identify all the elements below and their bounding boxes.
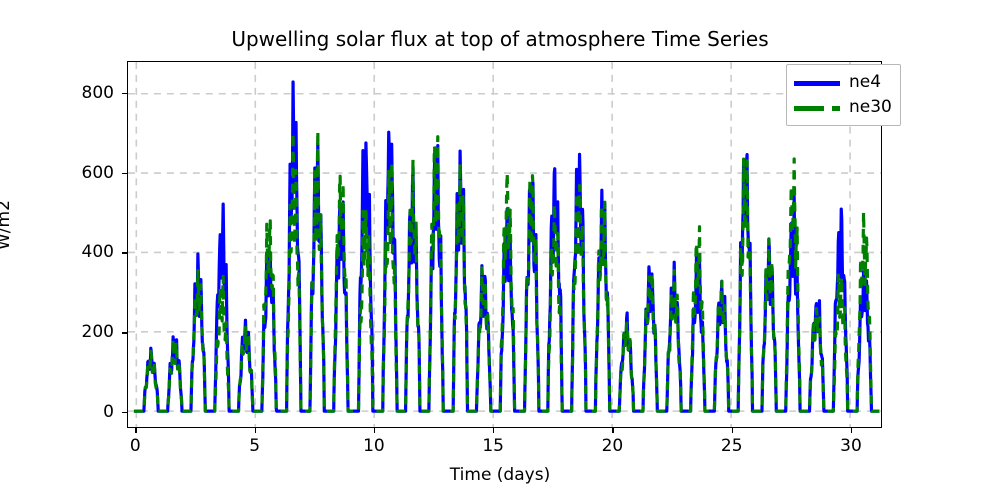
legend-label-ne30: ne30: [849, 99, 892, 116]
x-tick-mark: [851, 428, 852, 433]
y-tick-mark: [122, 332, 127, 333]
x-tick-mark: [493, 428, 494, 433]
series-lines: [128, 62, 881, 427]
y-tick-mark: [122, 93, 127, 94]
y-tick-label: 200: [82, 322, 114, 342]
y-tick-label: 400: [82, 242, 114, 262]
chart-figure: Upwelling solar flux at top of atmospher…: [0, 0, 1000, 500]
y-tick-mark: [122, 173, 127, 174]
x-tick-label: 15: [482, 436, 504, 456]
x-tick-mark: [135, 428, 136, 433]
x-tick-label: 25: [721, 436, 743, 456]
y-tick-label: 0: [103, 402, 114, 422]
legend-item-ne4: ne4: [794, 70, 892, 95]
legend-label-ne4: ne4: [849, 74, 881, 91]
legend-item-ne30: ne30: [794, 95, 892, 120]
x-tick-mark: [255, 428, 256, 433]
x-tick-mark: [374, 428, 375, 433]
plot-area: [127, 61, 882, 428]
chart-legend: ne4 ne30: [786, 64, 901, 126]
x-tick-label: 0: [130, 436, 141, 456]
x-tick-label: 10: [363, 436, 385, 456]
x-axis-title: Time (days): [0, 465, 1000, 485]
x-tick-mark: [612, 428, 613, 433]
chart-title: Upwelling solar flux at top of atmospher…: [0, 27, 1000, 51]
y-tick-mark: [122, 252, 127, 253]
y-axis-title: W/m2: [0, 200, 14, 250]
y-tick-label: 800: [82, 83, 114, 103]
x-tick-label: 30: [840, 436, 862, 456]
x-tick-mark: [732, 428, 733, 433]
x-tick-label: 20: [602, 436, 624, 456]
y-tick-mark: [122, 412, 127, 413]
y-tick-label: 600: [82, 163, 114, 183]
x-tick-label: 5: [249, 436, 260, 456]
